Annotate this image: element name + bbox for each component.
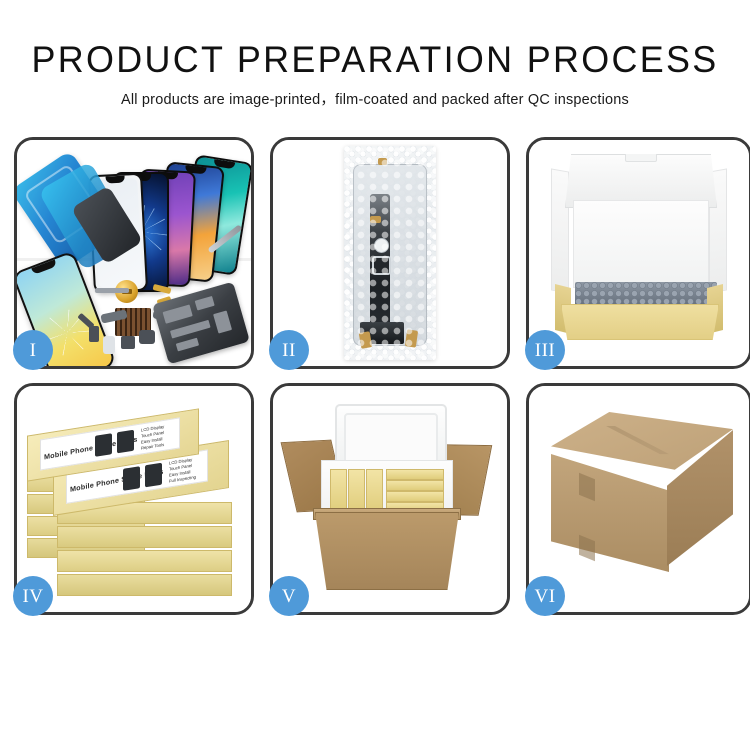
step-badge-5: V [269,576,309,616]
product-preparation-infographic: PRODUCT PREPARATION PROCESS All products… [0,0,750,750]
step-panel-5: V [270,383,510,615]
bubble-wrap-bag [344,146,436,360]
yellow-box-item [348,469,365,513]
step-panel-1: I [14,137,254,369]
small-part [103,336,115,354]
label-phone-image [117,430,134,454]
camera-hole [374,238,389,253]
open-yellow-box [553,154,725,344]
step-badge-4: IV [13,576,53,616]
stacked-box [57,574,232,596]
step-panel-2: II [270,137,510,369]
process-steps-grid: I II [14,137,738,615]
step-badge-2: II [269,330,309,370]
label-phone-image [95,433,112,457]
yellow-box-item [330,469,347,513]
yellow-box-item [386,469,444,480]
step-5-image [273,386,507,612]
step-2-image [273,140,507,366]
page-title: PRODUCT PREPARATION PROCESS [11,38,739,82]
small-part [95,288,129,293]
step-badge-1: I [13,330,53,370]
page-subtitle: All products are image-printed，film-coat… [0,91,750,109]
lid-tab [625,152,657,162]
small-part [121,336,135,349]
stacked-box [57,550,232,572]
wrapped-screen-assembly [353,164,427,346]
carton-body [315,512,459,590]
small-part [139,330,155,344]
connector-tab [405,329,418,347]
step-panel-4: Mobile Phone Spare Parts LCD Display Tou… [14,383,254,615]
stacked-box [57,526,232,548]
connector-tab [378,158,387,165]
header: PRODUCT PREPARATION PROCESS All products… [0,0,750,109]
label-phone-image [123,466,140,491]
box-front-wall [561,304,719,340]
label-phone-image [145,463,162,488]
step-4-image: Mobile Phone Spare Parts LCD Display Tou… [17,386,251,612]
sealed-carton [551,412,733,582]
connector-tab [370,216,381,223]
step-badge-6: VI [525,576,565,616]
sensor-module [372,256,391,275]
carton-front [551,454,669,572]
shipping-carton-open [291,404,481,594]
box-stack: Mobile Phone Spare Parts LCD Display Tou… [27,406,232,596]
yellow-box-item [386,480,444,491]
step-panel-3: III [526,137,750,369]
step-6-image [529,386,749,612]
step-panel-6: VI [526,383,750,615]
white-foam-sheet [573,200,709,288]
yellow-box-item [386,491,444,502]
step-badge-3: III [525,330,565,370]
step-3-image [529,140,749,366]
phone-motherboard [152,282,250,365]
box-flap-left [551,168,569,293]
step-1-image [17,140,251,366]
yellow-box-item [366,469,383,513]
